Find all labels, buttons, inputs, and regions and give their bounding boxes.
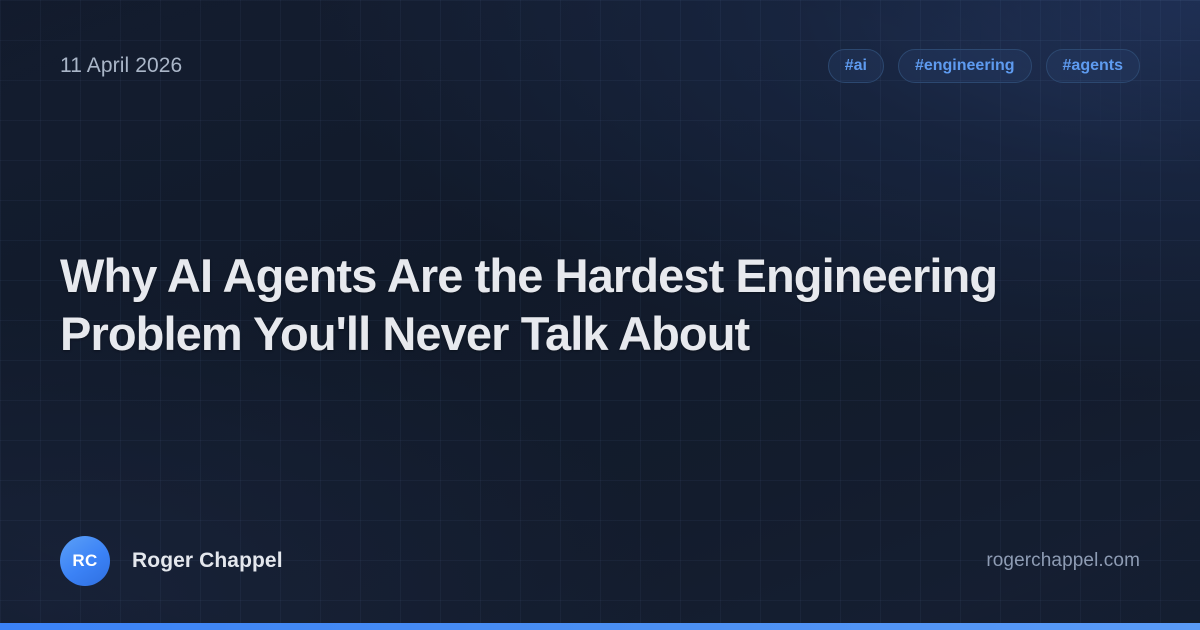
publish-date: 11 April 2026 [60,54,182,78]
article-title: Why AI Agents Are the Hardest Engineerin… [60,247,1050,363]
tag-list: #ai #engineering #agents [828,49,1140,83]
author-name: Roger Chappel [132,549,283,573]
card-content: 11 April 2026 #ai #engineering #agents W… [0,0,1200,630]
social-share-card: 11 April 2026 #ai #engineering #agents W… [0,0,1200,630]
avatar: RC [60,536,110,586]
accent-bar [0,623,1200,630]
site-url: rogerchappel.com [986,550,1140,572]
tag-engineering[interactable]: #engineering [898,49,1032,83]
tag-ai[interactable]: #ai [828,49,884,83]
tag-agents[interactable]: #agents [1046,49,1140,83]
card-footer: RC Roger Chappel rogerchappel.com [60,536,1140,586]
card-header: 11 April 2026 #ai #engineering #agents [0,0,1200,140]
author-block: RC Roger Chappel [60,536,283,586]
